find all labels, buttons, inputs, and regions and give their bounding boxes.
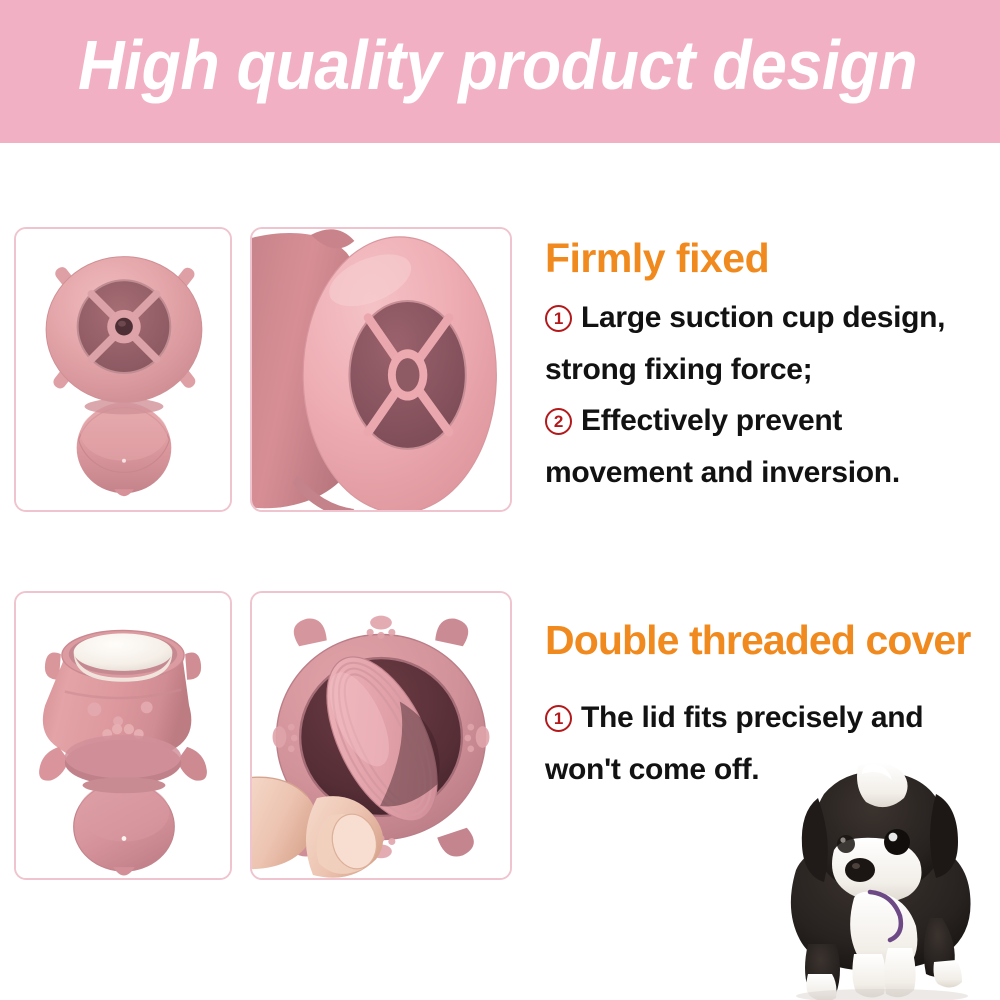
photo-panel-bowl-bottom <box>14 227 232 512</box>
list-marker-1: 1 <box>545 305 572 332</box>
feature-block-firmly-fixed: Firmly fixed 1Large suction cup design, … <box>545 236 993 498</box>
suction-cup-closeup-image <box>252 229 510 510</box>
photo-panel-suction-closeup <box>250 227 512 512</box>
feature-line-2: won't come off. <box>545 753 759 786</box>
bowl-with-paw-print-image <box>16 593 230 878</box>
bowl-bottom-suction-cup-image <box>16 229 230 510</box>
feature-line-3: Effectively prevent <box>581 404 842 437</box>
feature-line-2: strong fixing force; <box>545 353 812 386</box>
hand-holding-lid-image <box>252 593 510 878</box>
feature-line-1: Large suction cup design, <box>581 301 945 334</box>
photo-panel-hand-holding-lid <box>250 591 512 880</box>
feature-heading: Double threaded cover <box>545 618 993 664</box>
infographic-page: High quality product design <box>0 0 1000 1000</box>
list-marker-1: 1 <box>545 705 572 732</box>
feature-heading: Firmly fixed <box>545 236 993 282</box>
feature-line-4: movement and inversion. <box>545 456 900 489</box>
photo-panel-bowl-paw-print <box>14 591 232 880</box>
page-title: High quality product design <box>78 26 917 104</box>
feature-body: 1Large suction cup design, strong fixing… <box>545 292 993 498</box>
header-banner: High quality product design <box>0 0 1000 143</box>
feature-line-1: The lid fits precisely and <box>581 701 923 734</box>
tricolor-puppy-image <box>762 758 1000 1000</box>
list-marker-2: 2 <box>545 408 572 435</box>
